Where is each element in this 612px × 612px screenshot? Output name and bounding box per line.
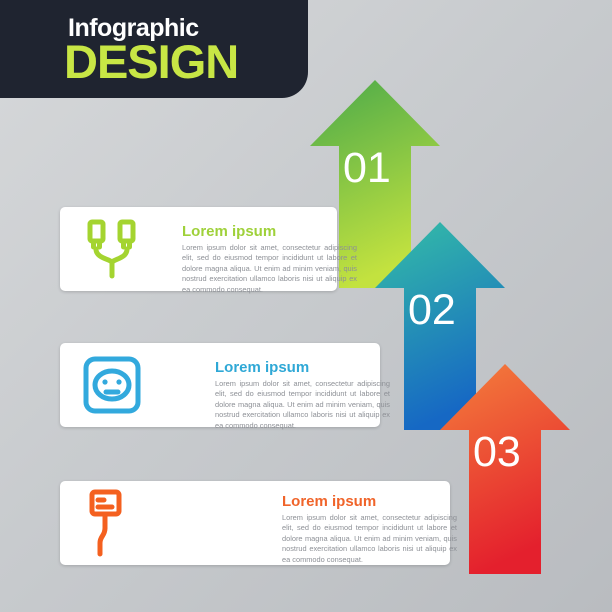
arrow-label-03: 03 <box>473 428 521 477</box>
arrow-label-01: 01 <box>343 144 391 193</box>
info-card-2[interactable]: Lorem ipsum Lorem ipsum dolor sit amet, … <box>60 343 380 427</box>
card-body-2: Lorem ipsum dolor sit amet, consectetur … <box>215 379 390 431</box>
audio-jack-icon <box>84 219 142 284</box>
arrow-label-02: 02 <box>408 286 456 335</box>
header-block: Infographic DESIGN <box>0 0 308 98</box>
card-body-3: Lorem ipsum dolor sit amet, consectetur … <box>282 513 457 565</box>
electrical-outlet-icon <box>83 356 141 419</box>
card-body-1: Lorem ipsum dolor sit amet, consectetur … <box>182 243 357 295</box>
usb-cable-icon <box>86 488 138 563</box>
card-title-2: Lorem ipsum <box>215 359 309 376</box>
card-title-1: Lorem ipsum <box>182 223 276 240</box>
info-card-3[interactable]: Lorem ipsum Lorem ipsum dolor sit amet, … <box>60 481 450 565</box>
arrow-step-03[interactable]: 03 <box>440 364 570 576</box>
info-card-1[interactable]: Lorem ipsum Lorem ipsum dolor sit amet, … <box>60 207 337 291</box>
card-title-3: Lorem ipsum <box>282 493 376 510</box>
header-title-secondary: DESIGN <box>64 38 238 85</box>
infographic-canvas: Infographic DESIGN 01 02 <box>0 0 612 612</box>
